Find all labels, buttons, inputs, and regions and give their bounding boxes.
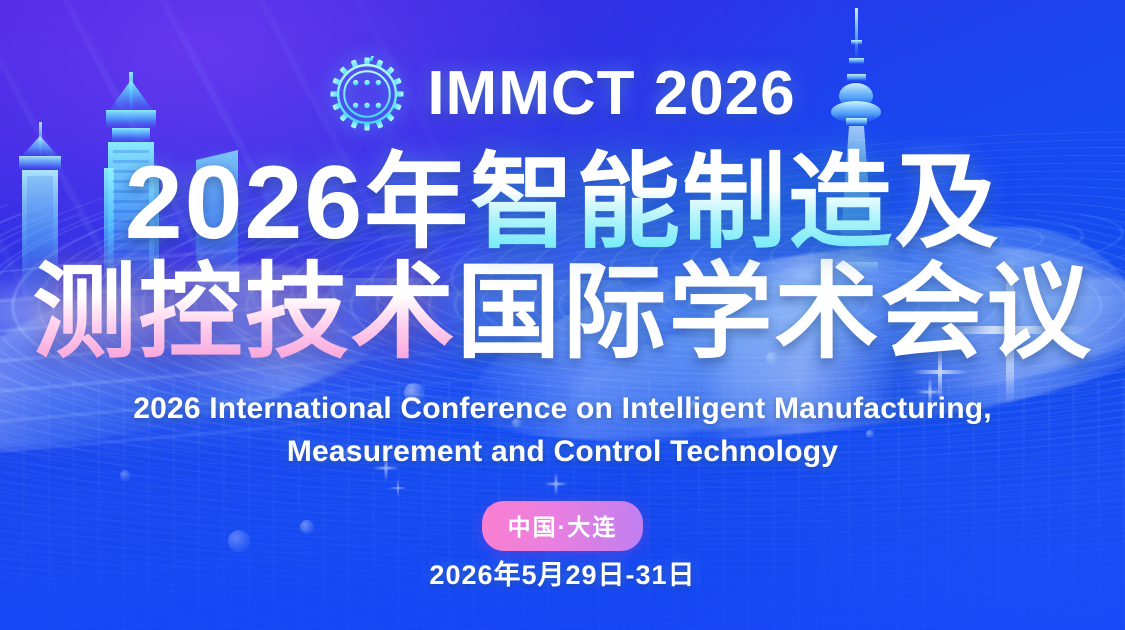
chinese-title-line-1: 2026年智能制造及 [0,148,1125,258]
logo-row: IMMCT 2026 [0,56,1125,132]
location-wrapper: 中国·大连 [0,501,1125,551]
title-segment-intl-conference: 国际学术会议 [457,258,1093,368]
title-segment-measurement-control: 测控技术 [32,258,456,368]
gear-circuit-icon [329,56,405,132]
english-title-line-2: Measurement and Control Technology [0,431,1125,474]
conference-banner: IMMCT 2026 2026年智能制造及 测控技术国际学术会议 2026 In… [0,0,1125,630]
brand-title: IMMCT 2026 [427,63,795,125]
banner-content: IMMCT 2026 2026年智能制造及 测控技术国际学术会议 2026 In… [0,0,1125,630]
title-segment-intelligent-mfg: 智能制造 [470,148,894,258]
conference-date: 2026年5月29日-31日 [0,553,1125,592]
english-title-line-1: 2026 International Conference on Intelli… [0,388,1125,431]
location-badge: 中国·大连 [482,501,644,551]
title-segment-and: 及 [894,148,1000,258]
english-title: 2026 International Conference on Intelli… [0,388,1125,473]
title-segment-year: 2026年 [125,148,470,258]
chinese-title: 2026年智能制造及 测控技术国际学术会议 [0,148,1125,368]
chinese-title-line-2: 测控技术国际学术会议 [0,258,1125,368]
